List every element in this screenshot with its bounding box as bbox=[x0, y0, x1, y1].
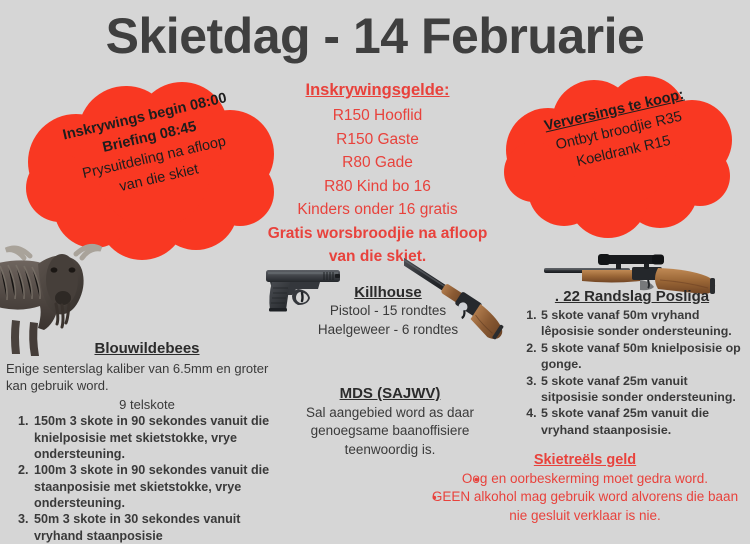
rules-heading: Skietreëls geld bbox=[420, 452, 750, 468]
wildebeest-count-note: 9 telskote bbox=[6, 397, 288, 412]
list-item: • GEEN alkohol mag gebruik word alvorens… bbox=[420, 488, 750, 525]
fee-note-line1: Gratis worsbroodjie na afloop bbox=[255, 222, 500, 246]
mds-section: MDS (SAJWV) Sal aangebied word as daar g… bbox=[288, 385, 492, 459]
entry-fees-heading: Inskrywingsgelde: bbox=[255, 78, 500, 103]
rules-list: • Oog en oorbeskerming moet gedra word. … bbox=[420, 470, 750, 525]
list-item: • Oog en oorbeskerming moet gedra word. bbox=[420, 470, 750, 488]
list-item: 50m 3 skote in 30 sekondes vanuit vryhan… bbox=[32, 511, 288, 544]
fee-line-gaste: R150 Gaste bbox=[255, 128, 500, 152]
list-item: 5 skote vanaf 25m vanuit sitposisie sond… bbox=[540, 373, 746, 406]
entry-fees-block: Inskrywingsgelde: R150 Hooflid R150 Gast… bbox=[255, 78, 500, 269]
killhouse-section: Killhouse Pistool - 15 rondtes Haelgewee… bbox=[300, 284, 476, 339]
mds-heading: MDS (SAJWV) bbox=[288, 385, 492, 402]
rule-text: Oog en oorbeskerming moet gedra word. bbox=[462, 471, 708, 486]
mds-line2: genoegsame baanoffisiere bbox=[288, 422, 492, 440]
rimfire-heading: . 22 Randslag Posliga bbox=[518, 288, 746, 305]
list-item: 5 skote vanaf 25m vanuit die vryhand sta… bbox=[540, 405, 746, 438]
mds-line1: Sal aangebied word as daar bbox=[288, 404, 492, 422]
page-title: Skietdag - 14 Februarie bbox=[0, 8, 750, 66]
fee-line-hooflid: R150 Hooflid bbox=[255, 104, 500, 128]
rimfire-stage-list: 5 skote vanaf 50m vryhand lêposisie sond… bbox=[540, 307, 746, 438]
poster-canvas: Skietdag - 14 Februarie Inskrywings begi… bbox=[0, 0, 750, 530]
bullet-icon: • bbox=[474, 471, 479, 489]
fee-line-kind-bo-16: R80 Kind bo 16 bbox=[255, 175, 500, 199]
fee-line-kinders-onder-16: Kinders onder 16 gratis bbox=[255, 198, 500, 222]
list-item: 150m 3 skote in 90 sekondes vanuit die k… bbox=[32, 413, 288, 462]
killhouse-line-shotgun: Haelgeweer - 6 rondtes bbox=[300, 321, 476, 340]
wildebeest-caliber-note: Enige senterslag kaliber van 6.5mm en gr… bbox=[6, 360, 288, 394]
bullet-icon: • bbox=[432, 489, 437, 507]
fee-line-gade: R80 Gade bbox=[255, 151, 500, 175]
killhouse-heading: Killhouse bbox=[300, 284, 476, 301]
wildebeest-heading: Blouwildebees bbox=[6, 340, 288, 357]
rules-section: Skietreëls geld • Oog en oorbeskerming m… bbox=[420, 452, 750, 525]
wildebeest-section: Blouwildebees Enige senterslag kaliber v… bbox=[6, 340, 288, 544]
rimfire-section: . 22 Randslag Posliga 5 skote vanaf 50m … bbox=[518, 288, 746, 438]
rule-text: GEEN alkohol mag gebruik word alvorens d… bbox=[432, 489, 738, 522]
list-item: 100m 3 skote in 90 sekondes vanuit die s… bbox=[32, 462, 288, 511]
list-item: 5 skote vanaf 50m vryhand lêposisie sond… bbox=[540, 307, 746, 340]
wildebeest-stage-list: 150m 3 skote in 90 sekondes vanuit die k… bbox=[32, 413, 288, 544]
info-blob-refreshments: Verversings te koop: Ontbyt broodjie R35… bbox=[496, 78, 742, 238]
killhouse-line-pistol: Pistool - 15 rondtes bbox=[300, 302, 476, 321]
list-item: 5 skote vanaf 50m knielposisie op gonge. bbox=[540, 340, 746, 373]
